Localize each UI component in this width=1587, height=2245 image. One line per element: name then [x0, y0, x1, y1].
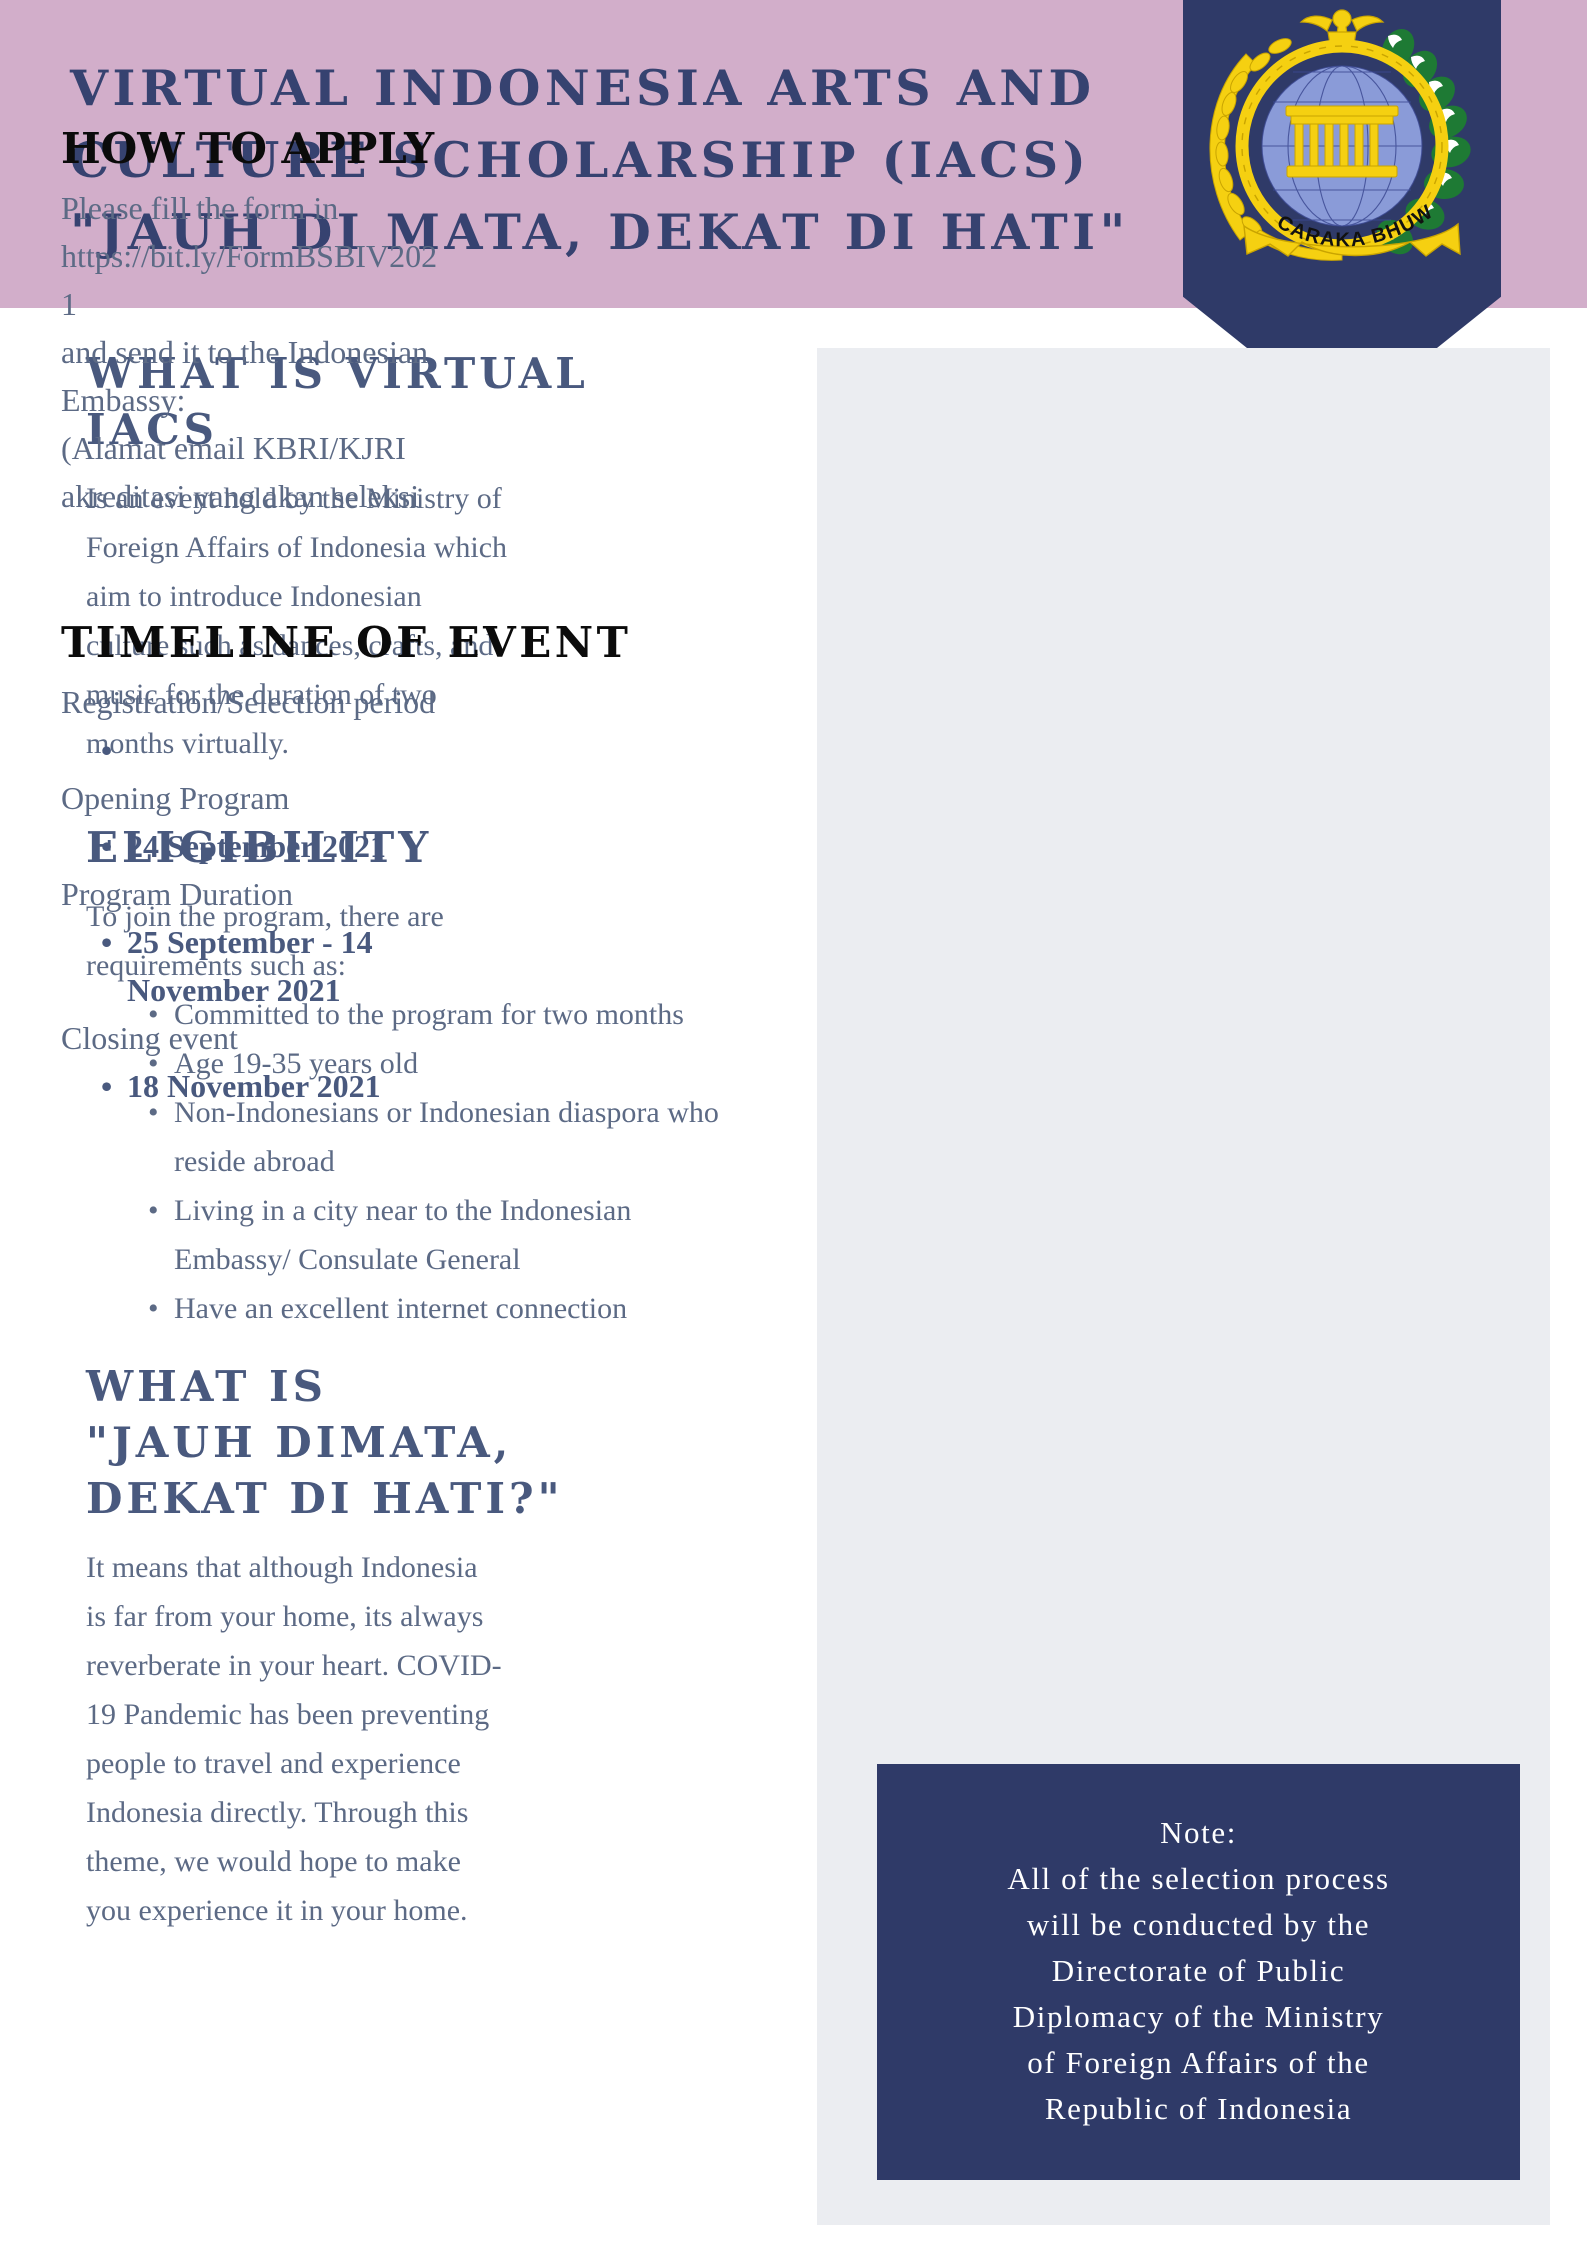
timeline-label-opening: Opening Program [61, 774, 681, 822]
timeline-value-closing: 18 November 2021 [61, 1062, 681, 1110]
list-item: Living in a city near to the Indonesian … [148, 1186, 736, 1284]
note-line: Directorate of Public [911, 1948, 1486, 1994]
paragraph-line: 19 Pandemic has been preventing [86, 1690, 736, 1739]
paragraph-line: theme, we would hope to make [86, 1837, 736, 1886]
form-url-line-2[interactable]: 1 [61, 280, 681, 328]
list-item: 24 September 2021 [101, 822, 681, 870]
ministry-of-foreign-affairs-emblem-icon: CARAKA BHUWANA [1192, 4, 1492, 294]
value-line-1: 25 September - 14 [127, 924, 373, 960]
note-line: Note: [911, 1810, 1486, 1856]
spacer [61, 520, 681, 616]
note-line: of Foreign Affairs of the [911, 2040, 1486, 2086]
timeline-label-registration: Registration/Selection period [61, 678, 681, 726]
list-item: 18 November 2021 [101, 1062, 681, 1110]
note-line: will be conducted by the [911, 1902, 1486, 1948]
paragraph-line: Please fill the form in [61, 184, 681, 232]
page-title-line-1: VIRTUAL INDONESIA ARTS AND [70, 52, 1150, 124]
timeline-value-registration [61, 726, 681, 774]
paragraph-line: akreditasi yang akan seleksi [61, 472, 681, 520]
paragraph-line: and send it to the Indonesian [61, 328, 681, 376]
list-item: Have an excellent internet connection [148, 1284, 736, 1333]
note-line: Diplomacy of the Ministry [911, 1994, 1486, 2040]
section-how-to-apply: HOW TO APPLY Please fill the form in htt… [61, 122, 681, 520]
note-line: All of the selection process [911, 1856, 1486, 1902]
theme-paragraph: It means that although Indonesia is far … [86, 1543, 736, 1935]
list-item: 25 September - 14 November 2021 [101, 918, 681, 1014]
paragraph-line: Embassy: [61, 376, 681, 424]
timeline-label-duration: Program Duration [61, 870, 681, 918]
note-line: Republic of Indonesia [911, 2086, 1486, 2132]
timeline-heading: TIMELINE OF EVENT [61, 616, 681, 670]
note-box: Note: All of the selection process will … [877, 1764, 1520, 2180]
section-timeline-of-event: TIMELINE OF EVENT Registration/Selection… [61, 616, 681, 1110]
timeline-label-closing: Closing event [61, 1014, 681, 1062]
spacer [86, 1333, 736, 1359]
section-theme-meaning: WHAT IS "JAUH DIMATA, DEKAT DI HATI?" It… [86, 1359, 736, 1935]
how-to-apply-paragraph: Please fill the form in https://bit.ly/F… [61, 184, 681, 520]
paragraph-line: reverberate in your heart. COVID- [86, 1641, 736, 1690]
how-to-apply-heading: HOW TO APPLY [61, 122, 681, 176]
timeline-value-opening: 24 September 2021 [61, 822, 681, 870]
paragraph-line: is far from your home, its always [86, 1592, 736, 1641]
paragraph-line: you experience it in your home. [86, 1886, 736, 1935]
paragraph-line: It means that although Indonesia [86, 1543, 736, 1592]
heading-line: "JAUH DIMATA, [86, 1415, 736, 1471]
timeline-value-duration: 25 September - 14 November 2021 [61, 918, 681, 1014]
paragraph-line: (Alamat email KBRI/KJRI [61, 424, 681, 472]
heading-line: WHAT IS [86, 1359, 736, 1415]
value-line-2: November 2021 [127, 966, 681, 1014]
heading-line: DEKAT DI HATI?" [86, 1471, 736, 1527]
form-url-line-1[interactable]: https://bit.ly/FormBSBIV202 [61, 232, 681, 280]
paragraph-line: Indonesia directly. Through this [86, 1788, 736, 1837]
paragraph-line: people to travel and experience [86, 1739, 736, 1788]
right-column: HOW TO APPLY Please fill the form in htt… [61, 122, 681, 1110]
theme-heading: WHAT IS "JAUH DIMATA, DEKAT DI HATI?" [86, 1359, 736, 1527]
list-item [101, 726, 681, 774]
